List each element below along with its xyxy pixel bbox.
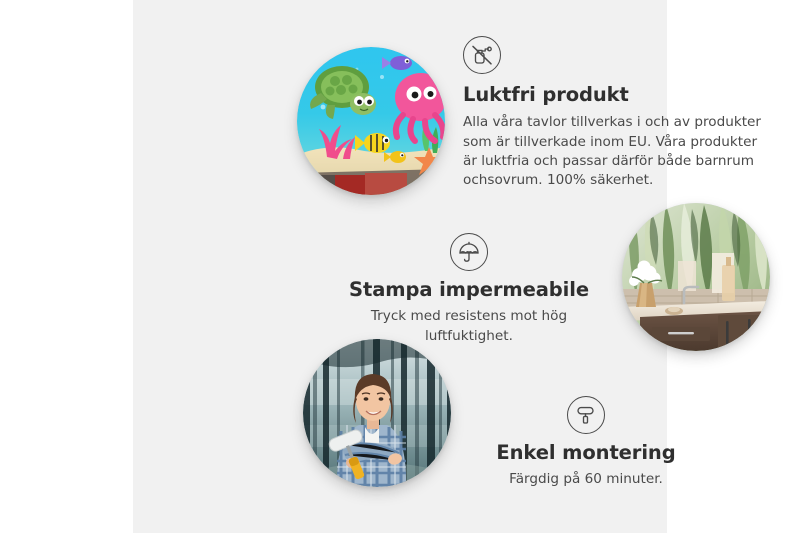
infographic-page: Luktfri produkt Alla våra tavlor tillver… xyxy=(0,0,800,533)
feature-body: Färgdig på 60 minuter. xyxy=(466,470,706,489)
feature-text-waterproof-print: Stampa impermeabile Tryck med resistens … xyxy=(343,233,595,346)
feature-text-odourless: Luktfri produkt Alla våra tavlor tillver… xyxy=(463,36,763,191)
underwater-cartoon-scene-photo xyxy=(297,47,445,195)
content-panel: Luktfri produkt Alla våra tavlor tillver… xyxy=(133,0,667,533)
feature-title: Enkel montering xyxy=(466,441,706,465)
feature-title: Stampa impermeabile xyxy=(343,278,595,302)
no-smell-spray-bottle-icon xyxy=(463,36,501,74)
feature-title: Luktfri produkt xyxy=(463,83,763,107)
paint-roller-icon xyxy=(567,396,605,434)
bathroom-tropical-wallpaper-photo xyxy=(622,203,770,351)
woman-with-paint-roller-forest-photo xyxy=(303,339,451,487)
feature-body: Alla våra tavlor tillverkas i och av pro… xyxy=(463,113,763,190)
feature-text-easy-installation: Enkel montering Färgdig på 60 minuter. xyxy=(466,396,706,490)
umbrella-icon xyxy=(450,233,488,271)
